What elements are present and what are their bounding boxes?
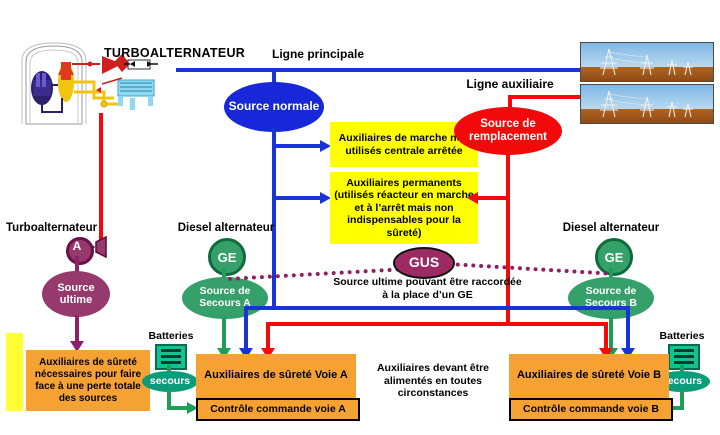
gus-caption: Source ultime pouvant être raccordée à l… (330, 276, 525, 301)
power-pylon-photo-bottom (580, 84, 714, 124)
branch-normale-aux-permanents (274, 196, 322, 200)
ge-a-node[interactable]: GE (208, 238, 246, 276)
arrow-left-icon (467, 192, 478, 204)
aux-surete-voie-a-box[interactable]: Auxiliaires de sûreté Voie A (196, 354, 356, 398)
source-normale-label: Source normale (229, 100, 320, 113)
ligne-principale-label: Ligne principale (228, 47, 408, 61)
source-remplacement-node[interactable]: Source de remplacement (454, 107, 562, 155)
battery-b-icon (668, 344, 700, 370)
battery-a-out-h (167, 406, 189, 410)
source-remplacement-label: Source de remplacement (454, 118, 562, 144)
breaker-icon (92, 236, 110, 258)
ultime-down-link (75, 315, 79, 343)
batteries-b-label: Batteries (650, 330, 714, 343)
source-ultime-node[interactable]: Source ultime (42, 271, 110, 317)
aux-surete-perte-totale-label: Auxiliaires de sûreté nécessaires pour f… (29, 357, 147, 405)
red-distribution-bus (266, 322, 608, 326)
aux-permanents-box[interactable]: Auxiliaires permanents (utilisés réacteu… (330, 172, 478, 244)
blue-bus-left-stub (244, 306, 274, 310)
ligne-auxiliaire-label: Ligne auxiliaire (440, 77, 580, 91)
diagram-canvas: TURBOALTERNATEUR Ligne principale Source… (0, 0, 720, 435)
blue-feed-voie-b (626, 306, 630, 350)
ge-a-label: GE (218, 250, 237, 265)
red-feed-voie-b (604, 322, 608, 350)
source-normale-node[interactable]: Source normale (224, 82, 324, 132)
battery-a-icon (155, 344, 187, 370)
gus-dotted-right (448, 262, 608, 275)
aux-permanents-label: Auxiliaires permanents (utilisés réacteu… (334, 177, 474, 240)
aux-surete-voie-b-box[interactable]: Auxiliaires de sûreté Voie B (509, 354, 669, 398)
batteries-a-label: Batteries (140, 330, 202, 343)
controle-commande-voie-b-label: Contrôle commande voie B (523, 403, 659, 416)
left-yellow-bar (6, 333, 23, 411)
source-ultime-label: Source ultime (42, 282, 110, 307)
branch-remplacement-aux-permanents (478, 196, 508, 200)
secours-a-battery-node[interactable]: secours (142, 371, 198, 392)
power-pylon-photo-top (580, 42, 714, 82)
branch-normale-aux-marche (274, 144, 322, 148)
controle-commande-voie-a-label: Contrôle commande voie A (210, 403, 346, 416)
auxiliary-line-bus (508, 95, 580, 99)
secours-a-battery-label: secours (150, 376, 190, 388)
diesel-alternateur-a-label: Diesel alternateur (166, 222, 286, 236)
turboalternateur-left-label: Turboalternateur (6, 222, 126, 236)
generator-symbol-letter: A (66, 239, 88, 253)
turboalternateur-top-label: TURBOALTERNATEUR (104, 46, 244, 61)
controle-commande-voie-b-box[interactable]: Contrôle commande voie B (509, 398, 673, 421)
red-feed-voie-a (266, 322, 270, 350)
source-secours-a-node[interactable]: Source de Secours A (182, 277, 268, 319)
gus-label: GUS (409, 255, 439, 271)
main-line-bus (176, 68, 580, 72)
secours-a-feed (222, 317, 226, 350)
gus-node[interactable]: GUS (393, 247, 455, 279)
diesel-alternateur-b-label: Diesel alternateur (546, 222, 676, 236)
source-secours-b-node[interactable]: Source de Secours B (568, 277, 654, 319)
blue-feed-voie-a (244, 306, 248, 350)
controle-commande-voie-a-box[interactable]: Contrôle commande voie A (196, 398, 360, 421)
aux-marche-non-utilises-label: Auxiliaires de marche non utilisés centr… (334, 132, 474, 157)
aux-toutes-circonstances-label: Auxiliaires devant être alimentés en tou… (360, 362, 506, 400)
aux-surete-voie-a-label: Auxiliaires de sûreté Voie A (204, 369, 348, 382)
aux-surete-perte-totale-box[interactable]: Auxiliaires de sûreté nécessaires pour f… (26, 350, 150, 411)
secours-b-feed (609, 317, 613, 350)
source-normale-trunk (272, 128, 276, 310)
ge-b-label: GE (605, 250, 624, 265)
blue-distribution-bus (272, 306, 630, 310)
aux-surete-voie-b-label: Auxiliaires de sûreté Voie B (517, 369, 661, 382)
branch-joint (274, 144, 278, 148)
